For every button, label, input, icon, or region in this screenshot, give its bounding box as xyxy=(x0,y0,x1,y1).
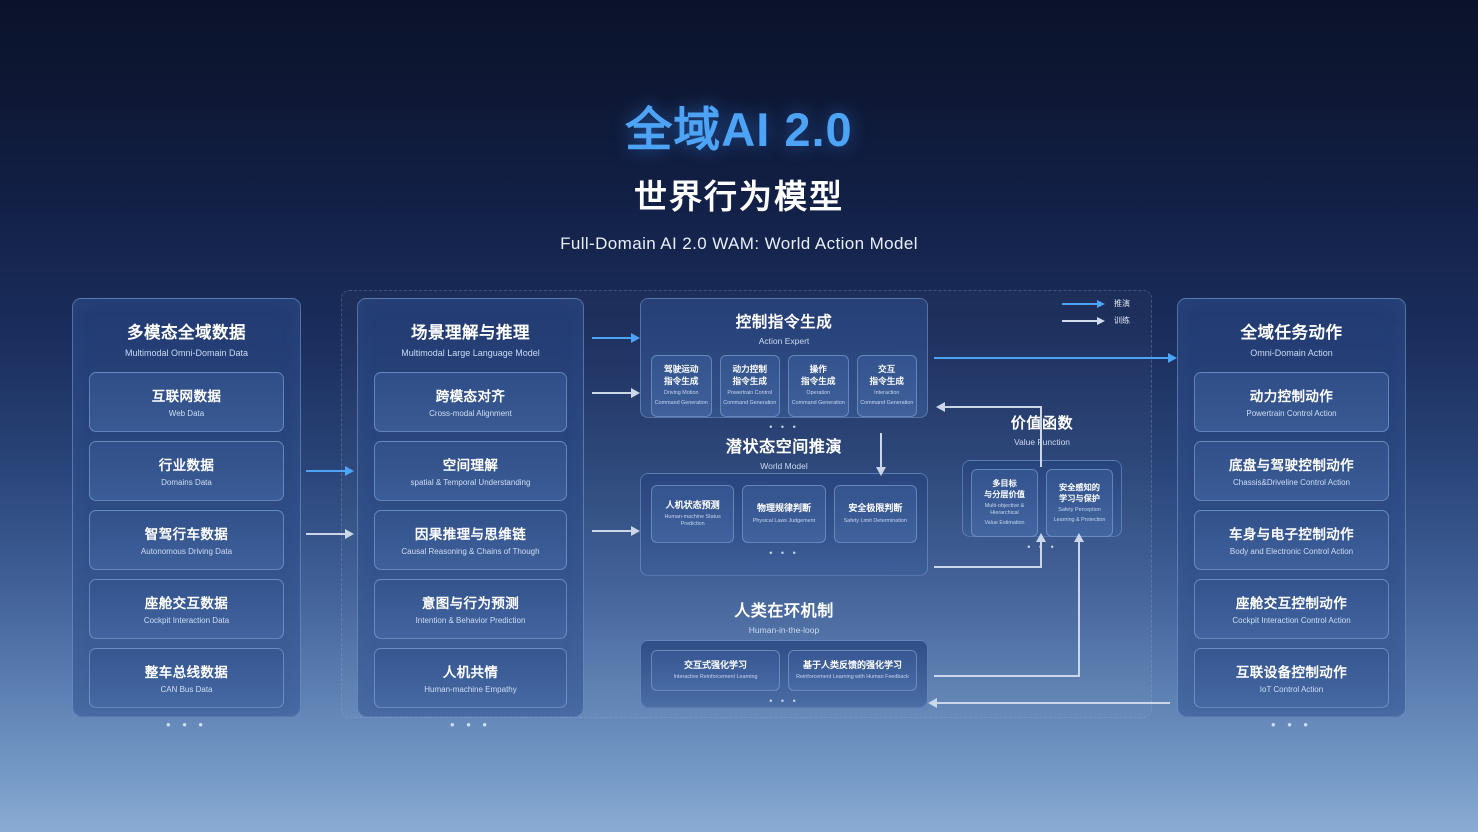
list-item[interactable]: 座舱交互控制动作 Cockpit Interaction Control Act… xyxy=(1194,579,1389,639)
action-expert-subboxes: 驾驶运动 指令生成 Driving Motion Command Generat… xyxy=(641,355,927,417)
legend-item-training: 训练 xyxy=(1062,312,1130,329)
block-action-expert[interactable]: 控制指令生成 Action Expert 驾驶运动 指令生成 Driving M… xyxy=(640,298,928,418)
connector-world-to-value-horizontal xyxy=(934,566,1042,568)
list-item[interactable]: 座舱交互数据 Cockpit Interaction Data xyxy=(89,579,284,639)
panel-scene-understanding[interactable]: 场景理解与推理 Multimodal Large Language Model … xyxy=(357,298,584,717)
sub-box[interactable]: 物理规律判断 Physical Laws Judgement xyxy=(742,485,825,543)
legend-label-training: 训练 xyxy=(1114,315,1130,326)
panel-data-title: 多模态全域数据 Multimodal Omni-Domain Data xyxy=(73,299,300,358)
panel-action-cells: 动力控制动作 Powertrain Control Action 底盘与驾驶控制… xyxy=(1178,372,1405,732)
arrow-action-expert-to-omni-action xyxy=(934,357,1169,359)
arrow-right-icon xyxy=(1062,303,1098,305)
list-item[interactable]: 整车总线数据 CAN Bus Data xyxy=(89,648,284,708)
panel-mllm-title-zh: 场景理解与推理 xyxy=(358,319,583,343)
block-value-function-title: 价值函数 Value Function xyxy=(962,412,1122,447)
more-indicator: • • • xyxy=(641,422,927,432)
list-item[interactable]: 行业数据 Domains Data xyxy=(89,441,284,501)
list-item[interactable]: 意图与行为预测 Intention & Behavior Prediction xyxy=(374,579,567,639)
sub-box[interactable]: 安全极限判断 Safety Limit Determination xyxy=(834,485,917,543)
world-model-subboxes: 人机状态预测 Human-machine Status Prediction 物… xyxy=(641,485,927,543)
more-indicator: • • • xyxy=(73,717,300,732)
panel-multimodal-data[interactable]: 多模态全域数据 Multimodal Omni-Domain Data 互联网数… xyxy=(72,298,301,717)
connector-hitl-to-value-horizontal xyxy=(934,675,1080,677)
arrow-right-icon xyxy=(1062,320,1098,322)
arrow-data-to-mllm-training xyxy=(306,533,346,535)
list-item[interactable]: 车身与电子控制动作 Body and Electronic Control Ac… xyxy=(1194,510,1389,570)
list-item[interactable]: 底盘与驾驶控制动作 Chassis&Driveline Control Acti… xyxy=(1194,441,1389,501)
page-title-english: Full-Domain AI 2.0 WAM: World Action Mod… xyxy=(0,234,1478,254)
more-indicator: • • • xyxy=(641,548,927,558)
block-world-model[interactable]: 人机状态预测 Human-machine Status Prediction 物… xyxy=(640,473,928,576)
panel-mllm-title: 场景理解与推理 Multimodal Large Language Model xyxy=(358,299,583,358)
list-item[interactable]: 空间理解 spatial & Temporal Understanding xyxy=(374,441,567,501)
more-indicator: • • • xyxy=(1178,717,1405,732)
panel-omni-domain-action[interactable]: 全域任务动作 Omni-Domain Action 动力控制动作 Powertr… xyxy=(1177,298,1406,717)
list-item[interactable]: 因果推理与思维链 Causal Reasoning & Chains of Th… xyxy=(374,510,567,570)
sub-box[interactable]: 驾驶运动 指令生成 Driving Motion Command Generat… xyxy=(651,355,712,417)
more-indicator: • • • xyxy=(963,542,1121,552)
legend-item-inference: 推演 xyxy=(1062,295,1130,312)
list-item[interactable]: 智驾行车数据 Autonomous Driving Data xyxy=(89,510,284,570)
sub-box[interactable]: 基于人类反馈的强化学习 Reinforcement Learning with … xyxy=(788,650,917,691)
panel-action-title-zh: 全域任务动作 xyxy=(1178,319,1405,343)
block-value-function[interactable]: 多目标 与分层价值 Multi-objective & Hierarchical… xyxy=(962,460,1122,537)
arrow-up-world-to-value xyxy=(1040,541,1042,568)
arrow-mllm-to-action-expert-inference xyxy=(592,337,632,339)
list-item[interactable]: 人机共情 Human-machine Empathy xyxy=(374,648,567,708)
arrow-left-value-to-action-expert xyxy=(944,406,1042,408)
more-indicator: • • • xyxy=(358,717,583,732)
sub-box[interactable]: 安全感知的 学习与保护 Safety Perception Learning &… xyxy=(1046,469,1113,537)
list-item[interactable]: 互联网数据 Web Data xyxy=(89,372,284,432)
arrow-data-to-mllm-inference xyxy=(306,470,346,472)
panel-action-title-en: Omni-Domain Action xyxy=(1178,348,1405,358)
arrow-down-world-model-to-action-expert xyxy=(880,433,882,468)
more-indicator: • • • xyxy=(641,696,927,706)
page-header: 全域AI 2.0 世界行为模型 Full-Domain AI 2.0 WAM: … xyxy=(0,0,1478,254)
sub-box[interactable]: 人机状态预测 Human-machine Status Prediction xyxy=(651,485,734,543)
arrow-up-hitl-to-value xyxy=(1078,541,1080,677)
legend-label-inference: 推演 xyxy=(1114,298,1130,309)
connector-value-to-action-vertical xyxy=(1040,407,1042,467)
block-hitl-title: 人类在环机制 Human-in-the-loop xyxy=(640,597,928,635)
block-action-expert-title: 控制指令生成 Action Expert xyxy=(641,299,927,346)
sub-box[interactable]: 动力控制 指令生成 Powertrain Control Command Gen… xyxy=(720,355,781,417)
sub-box[interactable]: 多目标 与分层价值 Multi-objective & Hierarchical… xyxy=(971,469,1038,537)
arrow-left-omni-action-feedback xyxy=(936,702,1170,704)
list-item[interactable]: 互联设备控制动作 IoT Control Action xyxy=(1194,648,1389,708)
panel-mllm-cells: 跨模态对齐 Cross-modal Alignment 空间理解 spatial… xyxy=(358,372,583,732)
hitl-subboxes: 交互式强化学习 Interactive Reinforcement Learni… xyxy=(641,650,927,691)
panel-data-cells: 互联网数据 Web Data 行业数据 Domains Data 智驾行车数据 … xyxy=(73,372,300,732)
arrow-mllm-to-world-model-training xyxy=(592,530,632,532)
list-item[interactable]: 跨模态对齐 Cross-modal Alignment xyxy=(374,372,567,432)
list-item[interactable]: 动力控制动作 Powertrain Control Action xyxy=(1194,372,1389,432)
architecture-diagram: 推演 训练 多模态全域数据 Multimodal Omni-Domain Dat… xyxy=(0,285,1478,725)
block-world-model-title: 潜状态空间推演 World Model xyxy=(640,433,928,471)
panel-mllm-title-en: Multimodal Large Language Model xyxy=(358,348,583,358)
panel-action-title: 全域任务动作 Omni-Domain Action xyxy=(1178,299,1405,358)
panel-data-title-en: Multimodal Omni-Domain Data xyxy=(73,348,300,358)
block-human-in-the-loop[interactable]: 交互式强化学习 Interactive Reinforcement Learni… xyxy=(640,640,928,708)
arrow-mllm-to-action-expert-training xyxy=(592,392,632,394)
page-title-sub: 世界行为模型 xyxy=(0,170,1478,218)
sub-box[interactable]: 操作 指令生成 Operation Command Generation xyxy=(788,355,849,417)
page-title-main: 全域AI 2.0 xyxy=(0,104,1478,156)
panel-data-title-zh: 多模态全域数据 xyxy=(73,319,300,343)
diagram-legend: 推演 训练 xyxy=(1062,295,1130,329)
sub-box[interactable]: 交互 指令生成 Interaction Command Generation xyxy=(857,355,918,417)
value-function-subboxes: 多目标 与分层价值 Multi-objective & Hierarchical… xyxy=(963,469,1121,537)
sub-box[interactable]: 交互式强化学习 Interactive Reinforcement Learni… xyxy=(651,650,780,691)
